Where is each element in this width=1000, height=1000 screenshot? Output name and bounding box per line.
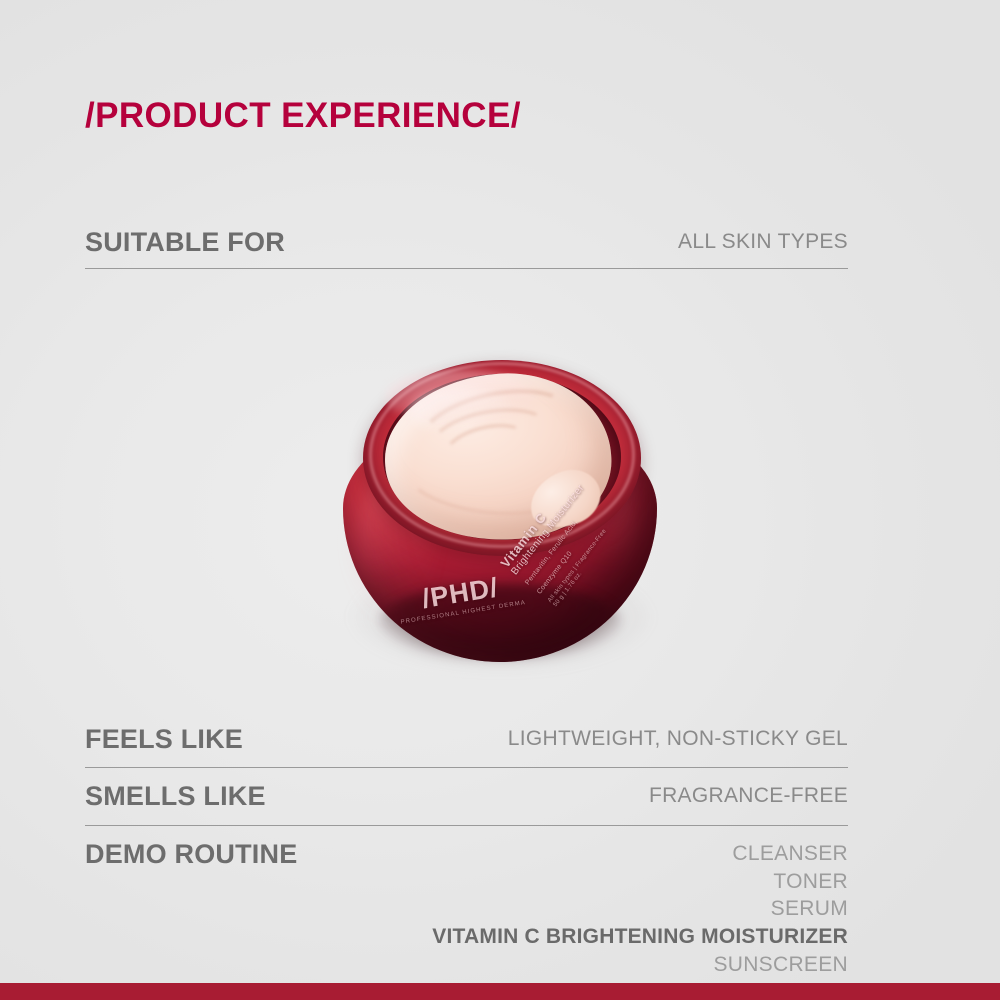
demo-routine-step: SERUM	[432, 895, 848, 923]
spec-row-demo-routine: DEMO ROUTINE CLEANSERTONERSERUMVITAMIN C…	[85, 840, 848, 979]
divider-feels-like	[85, 767, 848, 768]
spec-row-suitable-for: SUITABLE FOR ALL SKIN TYPES	[85, 228, 848, 257]
spec-label: FEELS LIKE	[85, 725, 243, 754]
divider-smells-like	[85, 825, 848, 826]
page-title: /PRODUCT EXPERIENCE/	[85, 96, 521, 136]
spec-value: LIGHTWEIGHT, NON-STICKY GEL	[508, 725, 848, 753]
spec-row-smells-like: SMELLS LIKE FRAGRANCE-FREE	[85, 782, 848, 811]
spec-value: ALL SKIN TYPES	[678, 228, 848, 256]
demo-routine-step: SUNSCREEN	[432, 951, 848, 979]
jar-rim-gloss-secondary	[385, 370, 535, 424]
product-experience-page: /PRODUCT EXPERIENCE/ SUITABLE FOR ALL SK…	[0, 0, 1000, 1000]
jar-base-shading	[379, 584, 621, 660]
spec-label: SUITABLE FOR	[85, 228, 285, 257]
demo-routine-list: CLEANSERTONERSERUMVITAMIN C BRIGHTENING …	[432, 840, 848, 979]
product-jar-image: /PHD/ PROFESSIONAL HIGHEST DERMA Vitamin…	[333, 352, 667, 682]
divider-suitable-for	[85, 268, 848, 269]
spec-label: SMELLS LIKE	[85, 782, 266, 811]
demo-routine-step: VITAMIN C BRIGHTENING MOISTURIZER	[432, 923, 848, 951]
spec-value: FRAGRANCE-FREE	[649, 782, 848, 810]
spec-label: DEMO ROUTINE	[85, 840, 297, 869]
demo-routine-step: CLEANSER	[432, 840, 848, 868]
footer-accent-bar	[0, 983, 1000, 1000]
demo-routine-step: TONER	[432, 868, 848, 896]
spec-row-feels-like: FEELS LIKE LIGHTWEIGHT, NON-STICKY GEL	[85, 725, 848, 754]
